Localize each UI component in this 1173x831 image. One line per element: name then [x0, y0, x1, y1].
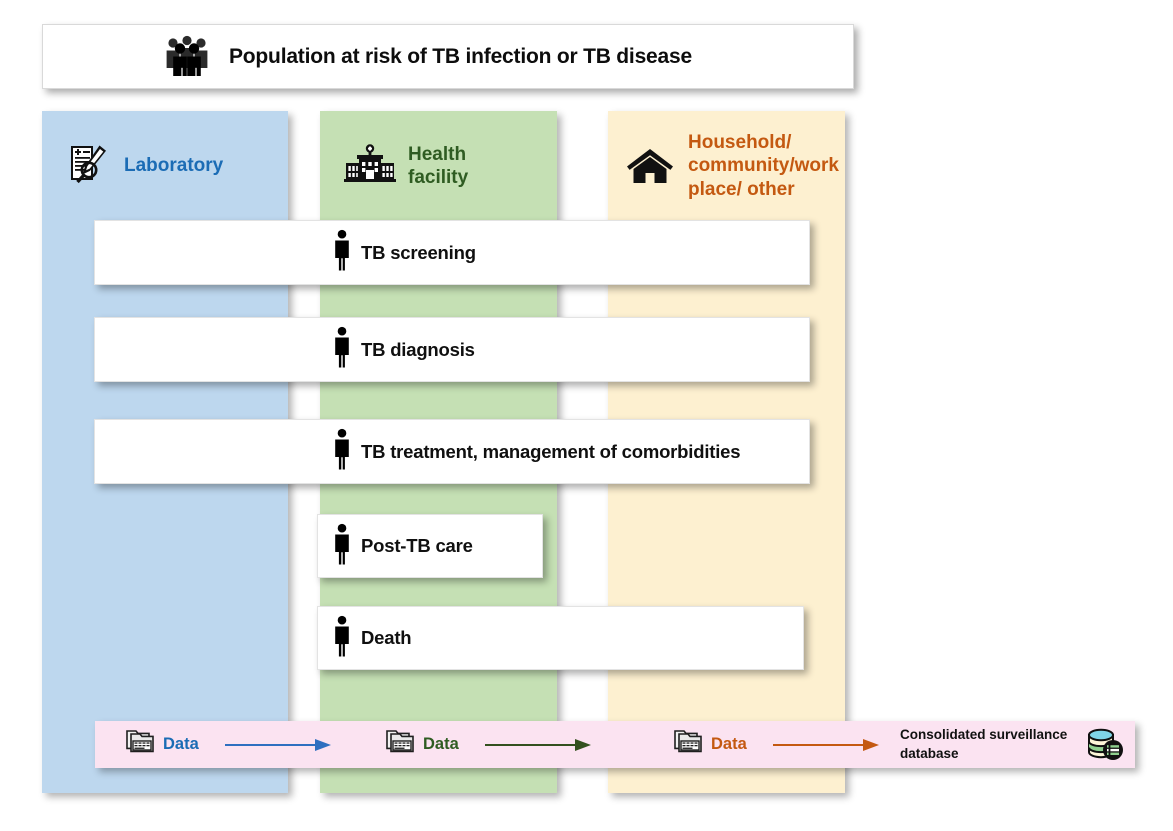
process-label-tb-screening: TB screening [361, 242, 476, 264]
person-icon [331, 229, 353, 276]
person-icon [331, 615, 353, 662]
flow-arrow-facility-to-household [485, 737, 592, 753]
data-folders-icon [125, 728, 155, 761]
data-flow-item-household: Data [673, 728, 880, 761]
consolidated-database-label-line1: Consolidated surveillance [900, 726, 1090, 744]
column-label-household-line2: community/work [688, 154, 838, 177]
column-label-health-facility-line1: Health [408, 143, 468, 166]
lab-report-microscope-icon [68, 144, 110, 188]
consolidated-database-label: Consolidated surveillance database [900, 726, 1090, 762]
process-row-tb-screening: TB screening [94, 220, 810, 285]
page-title: Population at risk of TB infection or TB… [229, 45, 692, 69]
hospital-building-icon [344, 144, 396, 188]
person-icon [331, 428, 353, 475]
data-flow-item-health-facility: Data [385, 728, 592, 761]
column-label-household: Household/ community/work place/ other [688, 131, 838, 201]
data-label-health-facility: Data [423, 735, 459, 754]
process-label-post-tb-care: Post-TB care [361, 535, 473, 557]
diagram-canvas: Population at risk of TB infection or TB… [0, 0, 1173, 831]
data-folders-icon [385, 728, 415, 761]
column-header-laboratory: Laboratory [42, 111, 288, 221]
column-label-household-line3: place/ other [688, 178, 838, 201]
process-row-death: Death [317, 606, 804, 670]
database-cylinder-icon [1086, 727, 1126, 768]
data-flow-item-laboratory: Data [125, 728, 332, 761]
process-row-tb-treatment: TB treatment, management of comorbiditie… [94, 419, 810, 484]
process-label-tb-diagnosis: TB diagnosis [361, 339, 475, 361]
flow-arrow-laboratory-to-facility [225, 737, 332, 753]
data-flow-bar: Data [95, 721, 1135, 768]
house-icon [626, 145, 674, 187]
population-banner: Population at risk of TB infection or TB… [42, 24, 854, 89]
data-label-household: Data [711, 735, 747, 754]
column-header-household: Household/ community/work place/ other [608, 111, 845, 221]
column-label-laboratory: Laboratory [124, 154, 223, 177]
column-header-health-facility: Health facility [320, 111, 557, 221]
person-icon [331, 326, 353, 373]
data-folders-icon [673, 728, 703, 761]
column-label-health-facility: Health facility [408, 143, 468, 189]
column-label-household-line1: Household/ [688, 131, 838, 154]
data-label-laboratory: Data [163, 735, 199, 754]
flow-arrow-household-to-database [773, 737, 880, 753]
process-label-death: Death [361, 627, 411, 649]
process-label-tb-treatment: TB treatment, management of comorbiditie… [361, 441, 740, 463]
consolidated-database-label-line2: database [900, 745, 1090, 763]
process-row-post-tb-care: Post-TB care [317, 514, 543, 578]
column-label-health-facility-line2: facility [408, 166, 468, 189]
people-group-icon [163, 35, 211, 79]
process-row-tb-diagnosis: TB diagnosis [94, 317, 810, 382]
person-icon [331, 523, 353, 570]
